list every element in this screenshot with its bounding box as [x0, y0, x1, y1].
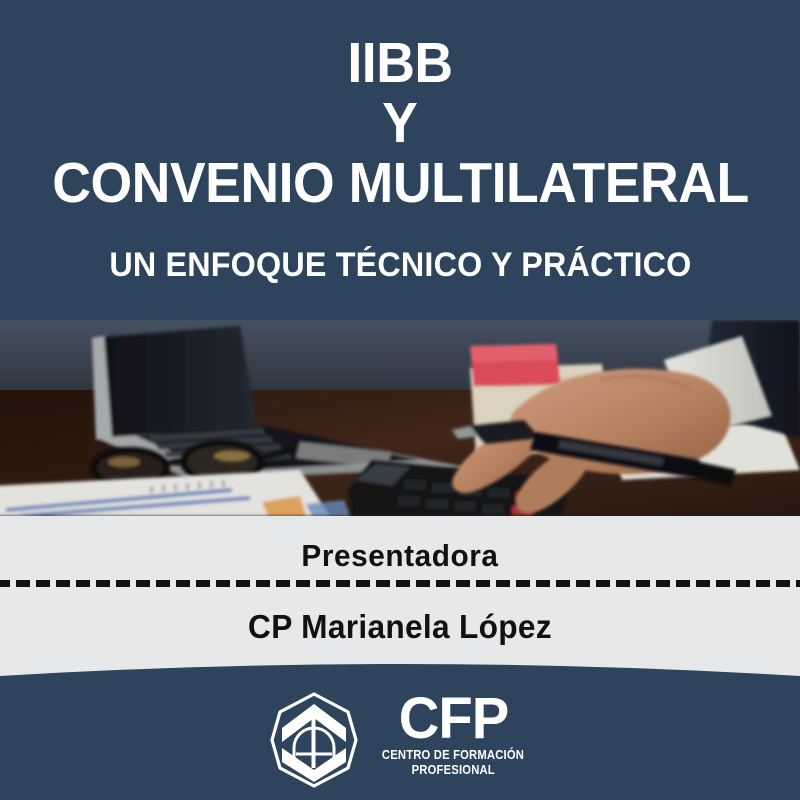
- page-title-line-1: IIBB: [347, 34, 452, 92]
- cfp-wordmark: CFP CENTRO DE FORMACIÓN PROFESIONAL: [374, 692, 532, 778]
- presenter-role-label: Presentadora: [16, 538, 784, 574]
- brand-logo: CFP CENTRO DE FORMACIÓN PROFESIONAL: [0, 688, 800, 800]
- header-band: IIBB Y CONVENIO MULTILATERAL UN ENFOQUE …: [0, 0, 800, 320]
- cfp-subtitle-line-1: CENTRO DE FORMACIÓN: [382, 748, 524, 763]
- page-subtitle: UN ENFOQUE TÉCNICO Y PRÁCTICO: [109, 246, 691, 285]
- dashed-divider: [0, 580, 800, 587]
- cfp-initials: CFP: [398, 692, 508, 745]
- page-title-line-3: CONVENIO MULTILATERAL: [52, 154, 749, 212]
- cfp-subtitle-line-2: PROFESIONAL: [411, 763, 494, 778]
- page-title-line-2: Y: [382, 94, 417, 152]
- poster-canvas: IIBB Y CONVENIO MULTILATERAL UN ENFOQUE …: [0, 0, 800, 800]
- hero-photo-illustration: [0, 320, 800, 516]
- footer-band: CFP CENTRO DE FORMACIÓN PROFESIONAL: [0, 650, 800, 800]
- presenter-name: CP Marianela López: [16, 608, 784, 646]
- cfp-hexagon-emblem-icon: [268, 690, 360, 790]
- hero-photo: [0, 320, 800, 516]
